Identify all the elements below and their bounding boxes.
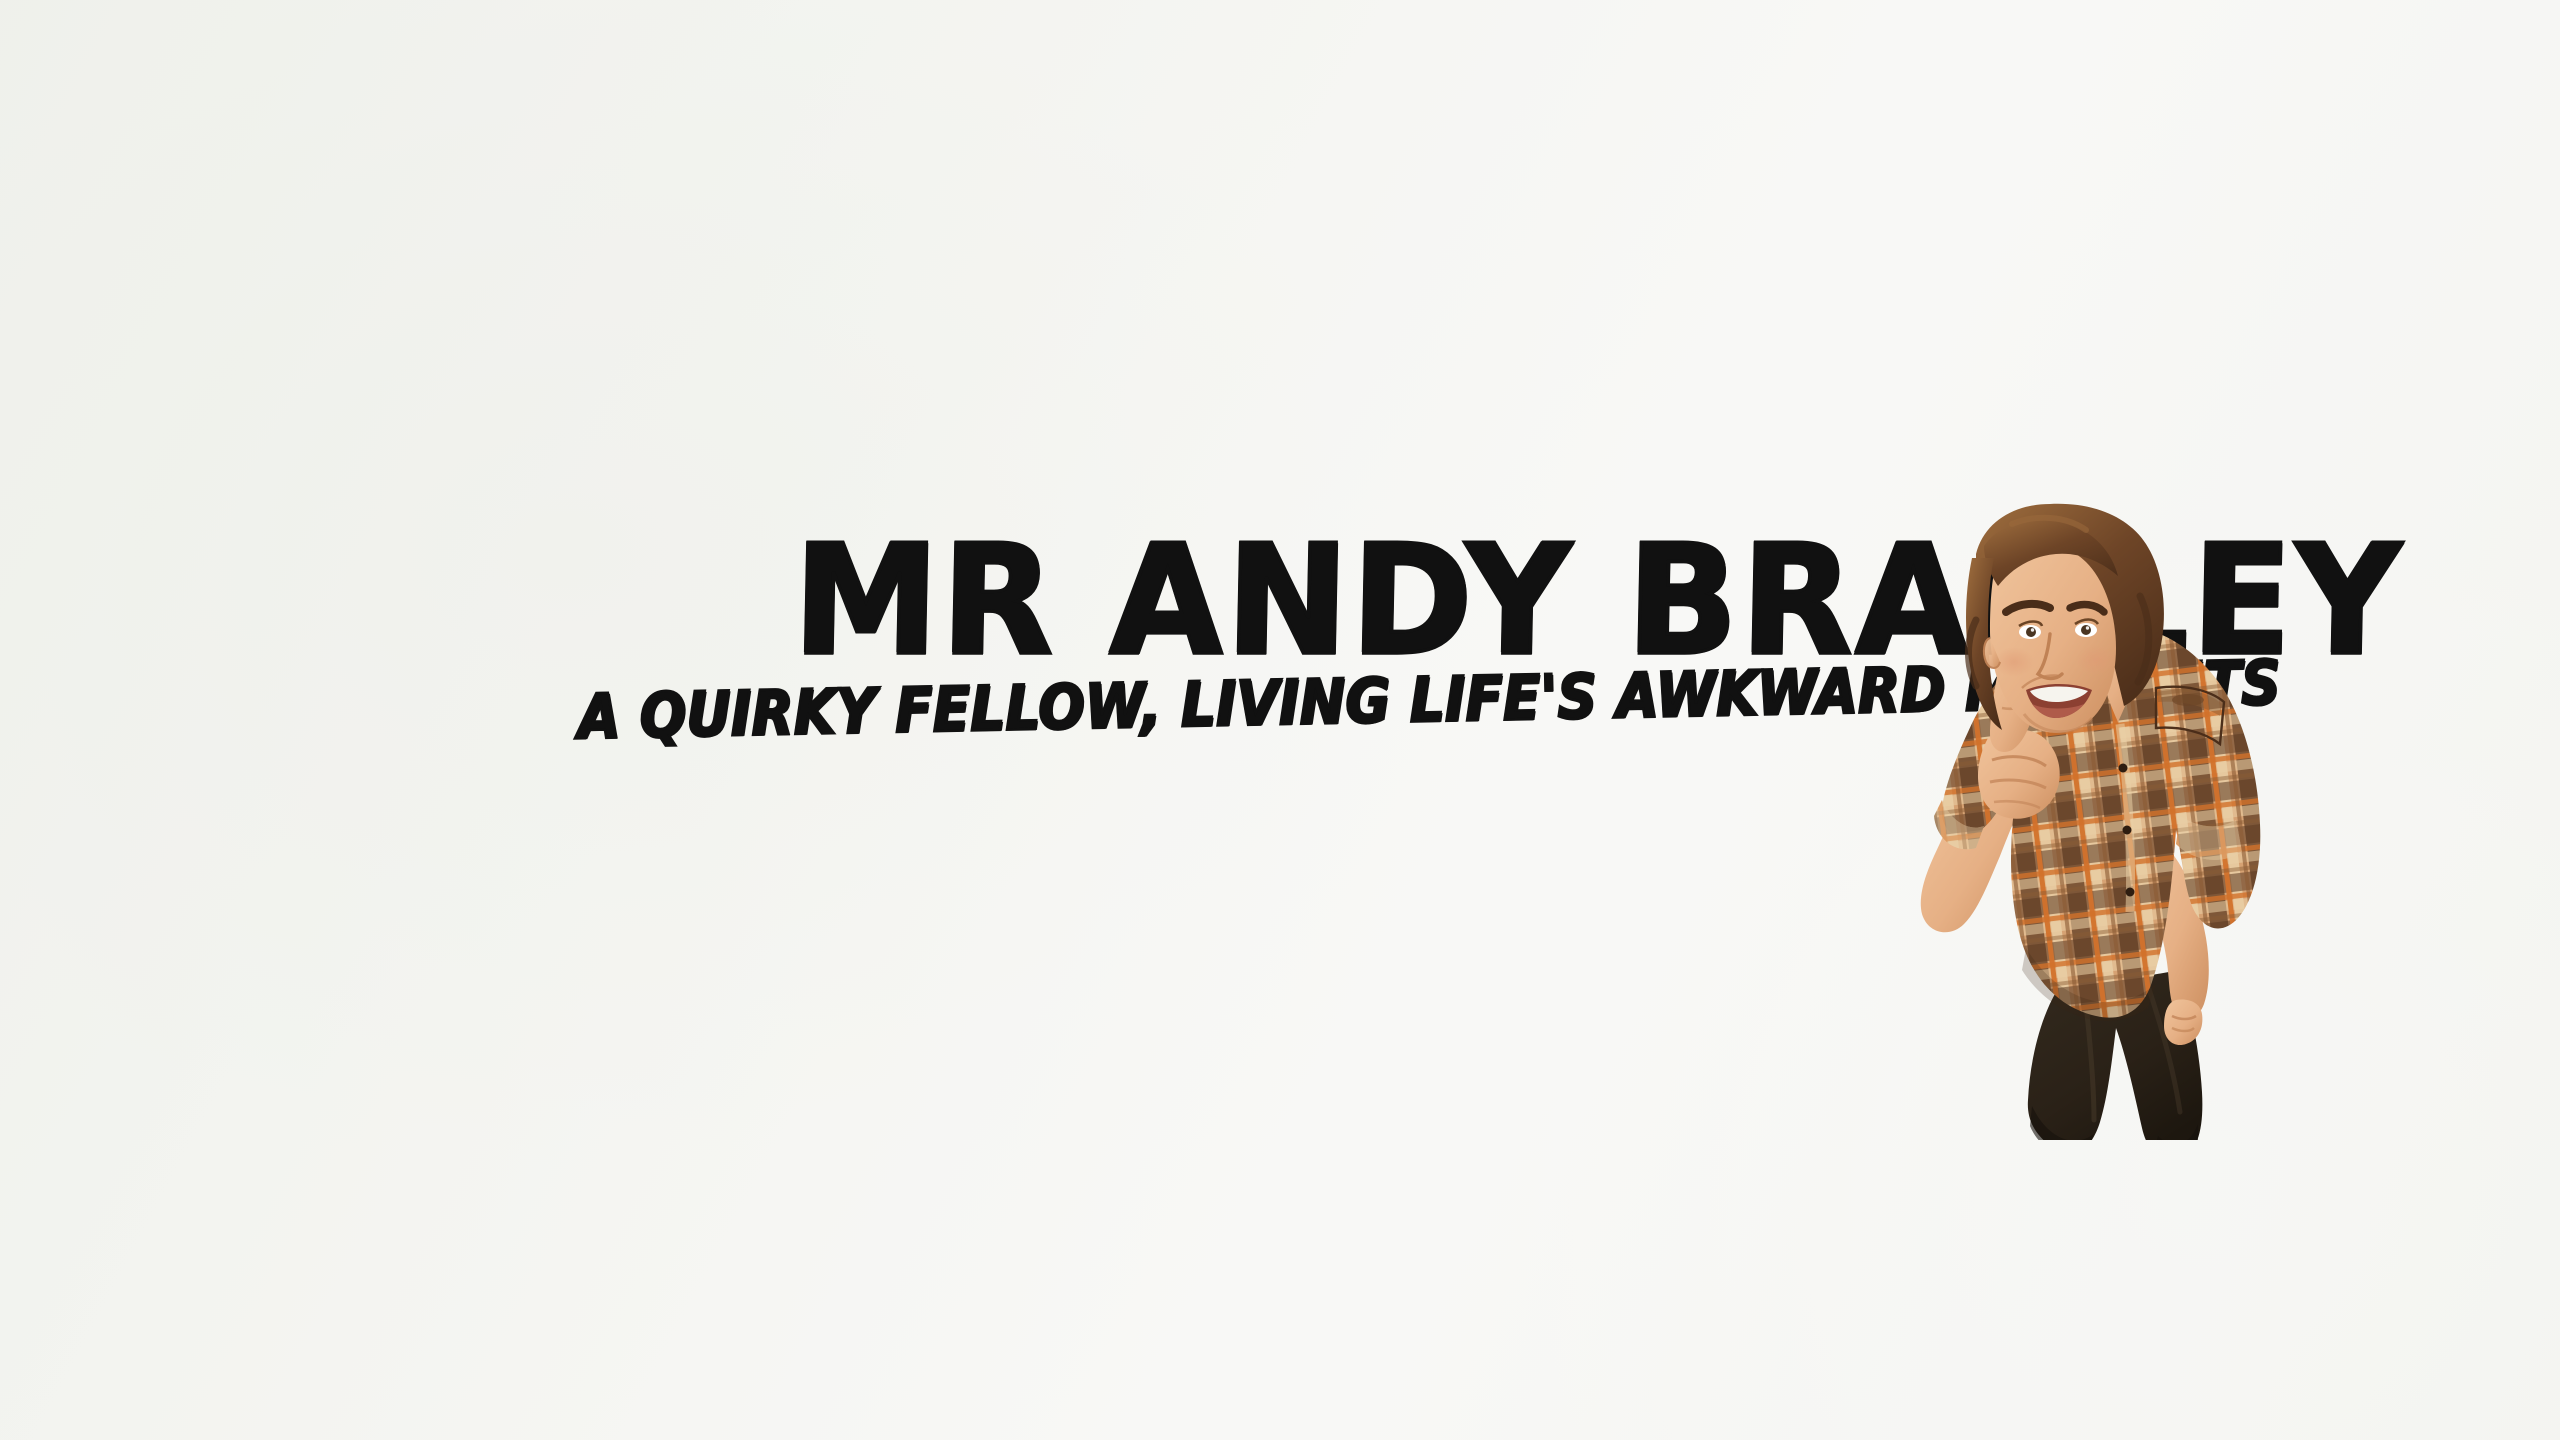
- banner-root: MR ANDY BRADLEY A QUIRKY FELLOW, LIVING …: [0, 0, 2560, 1440]
- person-thumbs-up-photo: [1880, 500, 2290, 1140]
